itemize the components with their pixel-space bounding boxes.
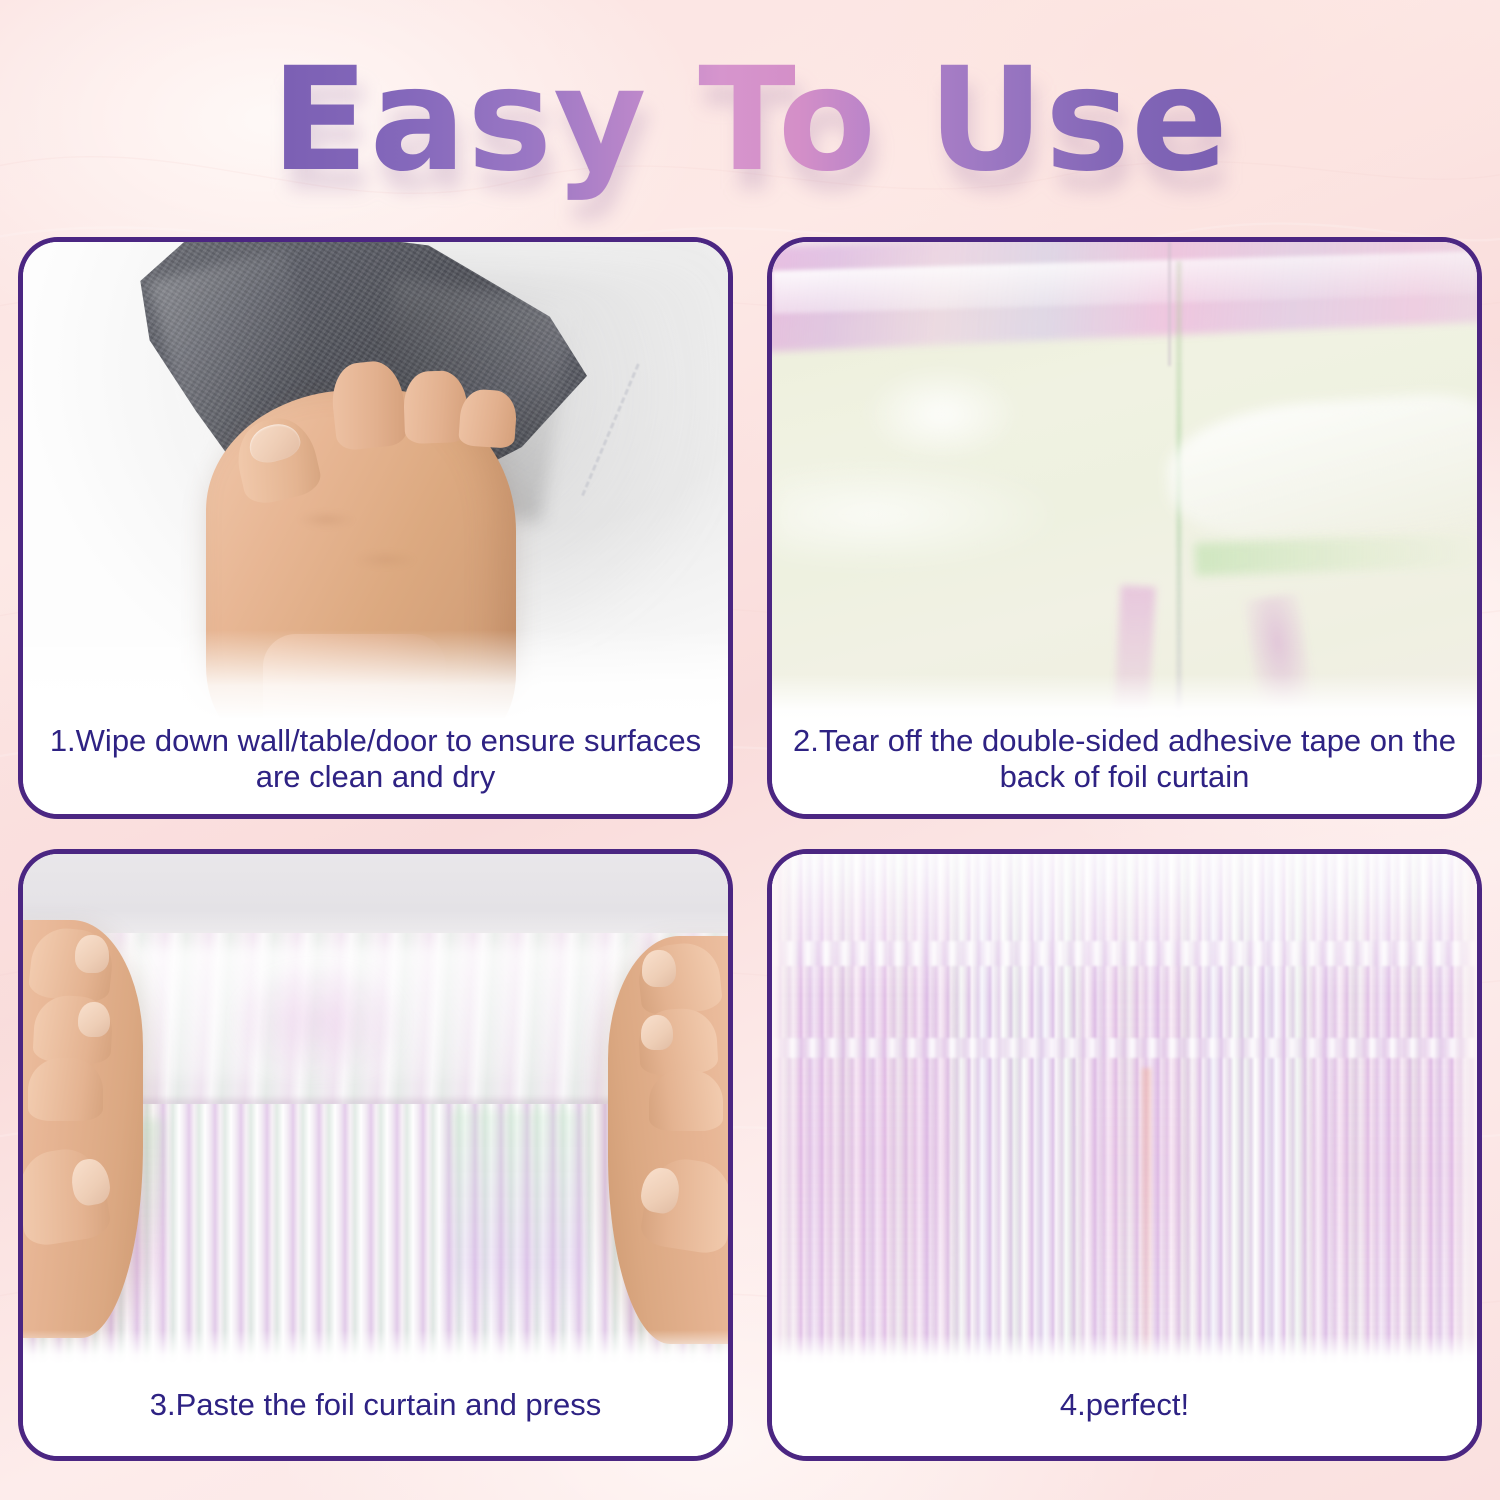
step-1-photo	[23, 242, 728, 720]
hand-finger	[458, 388, 518, 449]
steps-grid: 1.Wipe down wall/table/door to ensure su…	[18, 237, 1482, 1461]
page-title: Easy To Use	[271, 36, 1229, 203]
step-3-photo	[23, 854, 728, 1364]
step-4-caption: 4.perfect!	[772, 1364, 1477, 1456]
foil-iridescence-center	[235, 966, 404, 1078]
curtain-warm-streak	[1142, 1068, 1150, 1364]
step-3-caption: 3.Paste the foil curtain and press	[23, 1364, 728, 1456]
wall-background	[23, 854, 728, 941]
right-hand-nail	[642, 950, 676, 987]
hand-knuckle-shading	[263, 491, 475, 634]
step-1-caption: 1.Wipe down wall/table/door to ensure su…	[23, 718, 728, 814]
step-card-3: 3.Paste the foil curtain and press	[18, 849, 733, 1461]
left-hand-nail	[78, 1002, 111, 1038]
step-2-photo	[772, 242, 1477, 720]
fringe-iridescence-right	[446, 1109, 587, 1354]
photo-bottom-fade	[23, 1330, 728, 1364]
foil-sheen-large	[1163, 387, 1477, 541]
left-hand-nail	[75, 935, 109, 973]
curtain-top-highlight	[772, 854, 1477, 997]
curtain-cut-band-lower	[772, 1038, 1477, 1058]
left-hand-finger	[28, 1058, 102, 1121]
foil-sheen-small	[864, 366, 1019, 462]
foil-green-iridescence	[1195, 533, 1477, 577]
left-hand	[23, 920, 143, 1338]
right-hand	[608, 936, 728, 1344]
foil-sheen-left	[772, 462, 1054, 567]
step-4-photo	[772, 854, 1477, 1364]
step-card-1: 1.Wipe down wall/table/door to ensure su…	[18, 237, 733, 819]
right-hand-nail	[641, 1015, 674, 1050]
photo-left-fade	[772, 854, 798, 1364]
step-2-caption: 2.Tear off the double-sided adhesive tap…	[772, 718, 1477, 814]
right-hand-finger	[649, 1070, 723, 1131]
page-title-container: Easy To Use Easy To Use	[0, 34, 1500, 204]
foil-crease-upper	[1168, 242, 1171, 366]
step-card-2: 2.Tear off the double-sided adhesive tap…	[767, 237, 1482, 819]
photo-right-fade	[1451, 854, 1477, 1364]
photo-bottom-fade	[772, 674, 1477, 720]
photo-bottom-fade	[772, 1334, 1477, 1364]
photo-bottom-fade	[23, 630, 728, 720]
step-card-4: 4.perfect!	[767, 849, 1482, 1461]
